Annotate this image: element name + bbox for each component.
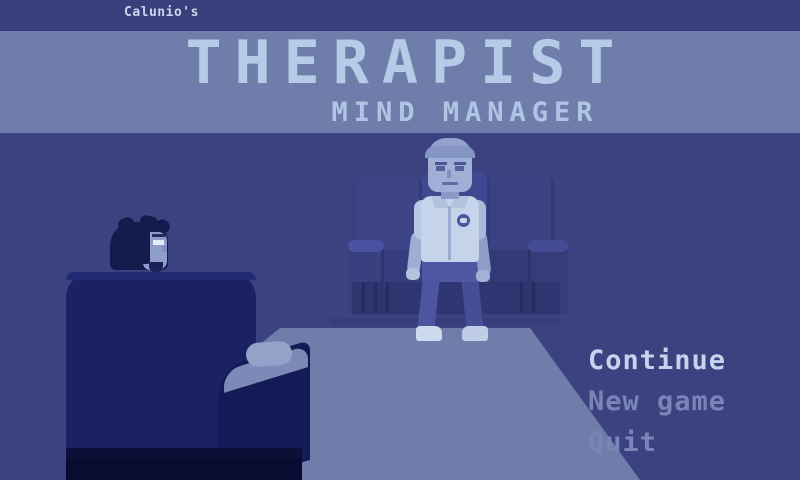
- page-subtitle: MIND MANAGER: [0, 99, 800, 126]
- patient-eye-right: [455, 166, 464, 171]
- therapist-nose: [162, 246, 167, 252]
- patient-eyebrow-left: [435, 162, 447, 165]
- game-screen: Calunio's THERAPIST MIND MANAGER Continu…: [0, 0, 800, 480]
- top-band: [0, 0, 800, 31]
- armchair-arm-cap: [245, 340, 293, 367]
- couch-base-groove: [386, 282, 389, 312]
- therapist-eyebrow: [152, 234, 165, 237]
- patient-shirt-placket: [448, 206, 451, 260]
- menu-item-quit[interactable]: Quit: [588, 422, 788, 463]
- patient-shirt-badge-inner: [460, 218, 467, 223]
- menu-item-continue[interactable]: Continue: [588, 340, 788, 381]
- therapist-eye: [153, 240, 164, 245]
- patient-character: [400, 138, 520, 343]
- couch-arm-left-top: [348, 240, 384, 252]
- patient-shoe-right: [462, 326, 488, 341]
- page-title: THERAPIST: [0, 33, 800, 93]
- menu-item-new-game[interactable]: New game: [588, 381, 788, 422]
- patient-eye-left: [436, 166, 445, 171]
- couch-base-groove: [532, 282, 535, 312]
- armchair-floor-shadow: [66, 458, 302, 480]
- patient-hand-right: [476, 270, 490, 282]
- patient-shoe-left: [416, 326, 442, 341]
- therapist-jaw-shadow: [149, 262, 163, 272]
- couch-arm-right-top: [528, 240, 568, 252]
- couch-base-groove: [374, 282, 377, 312]
- patient-eyebrow-right: [454, 162, 466, 165]
- therapist-sideburn: [140, 230, 150, 264]
- developer-byline: Calunio's: [124, 5, 199, 20]
- armchair: [48, 272, 310, 480]
- patient-hair-fringe: [425, 146, 475, 158]
- main-menu: Continue New game Quit: [588, 340, 788, 463]
- armchair-backrest-highlight: [66, 272, 256, 280]
- patient-nose: [447, 170, 451, 178]
- patient-mouth: [442, 182, 458, 185]
- patient-hand-left: [406, 268, 420, 280]
- couch-base-groove: [520, 282, 523, 312]
- couch-base-groove: [362, 282, 365, 312]
